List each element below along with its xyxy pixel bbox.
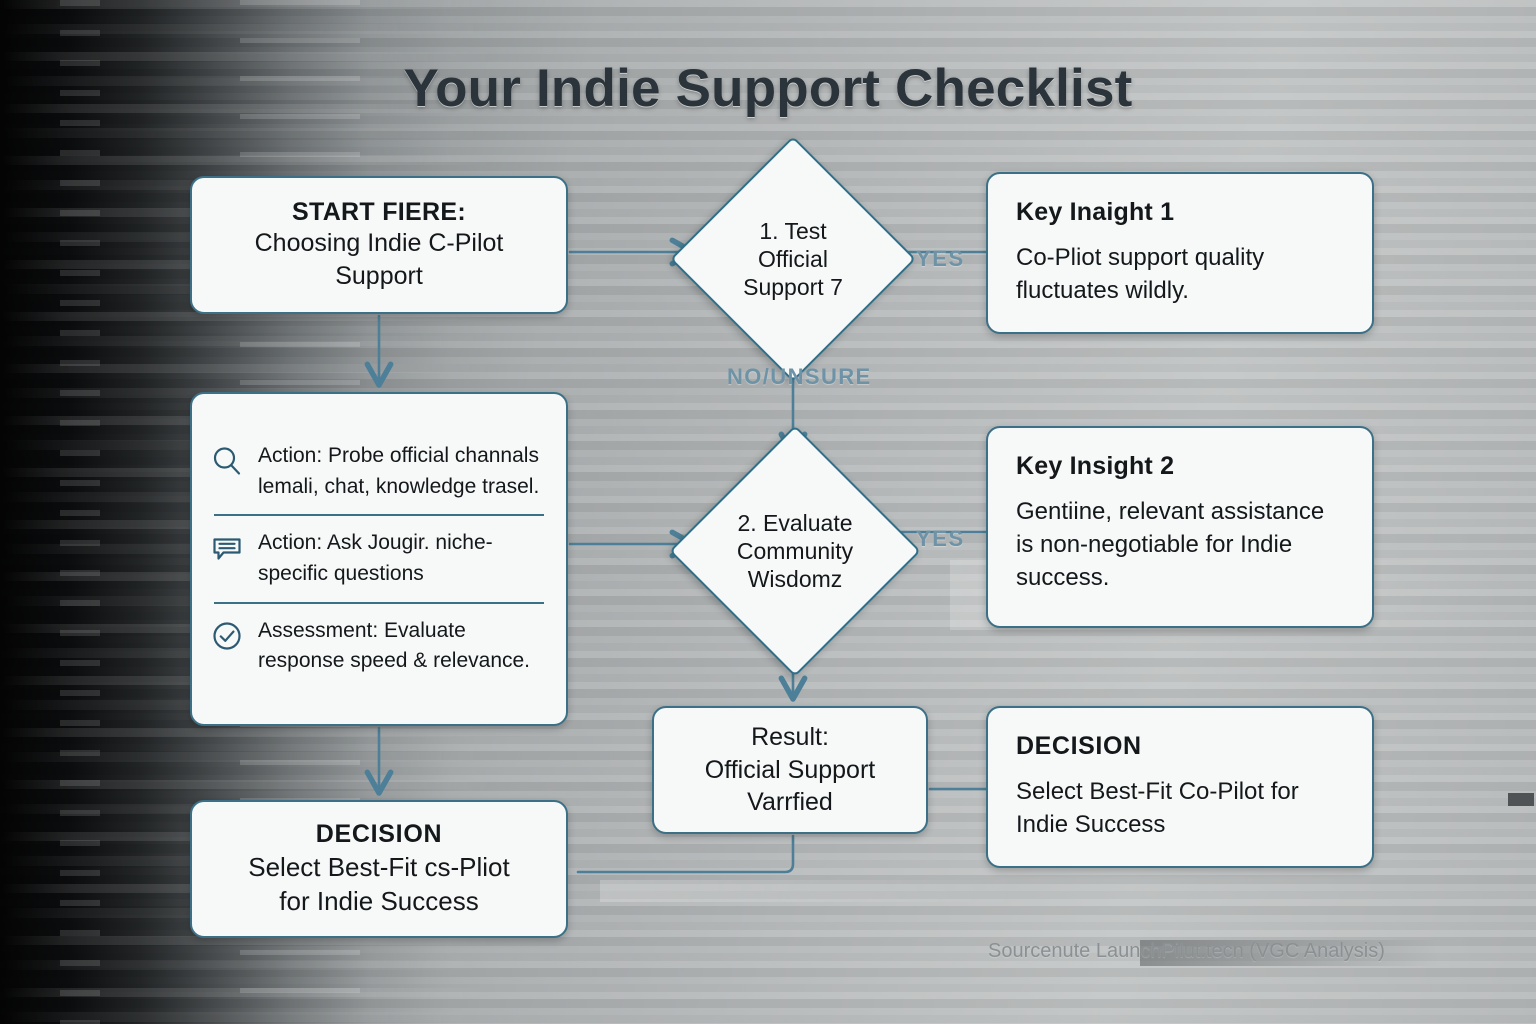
action-item-probe-text: Action: Probe official channals lemali, … xyxy=(258,441,544,502)
page-title: Your Indie Support Checklist xyxy=(0,58,1536,119)
action-item-ask-text: Action: Ask Jougir. niche-specific quest… xyxy=(258,528,544,589)
action-item-assessment[interactable]: Assessment: Evaluate response speed & re… xyxy=(192,606,566,687)
node-decision-left-title: DECISION xyxy=(316,820,442,849)
node-decision-left[interactable]: DECISION Select Best-Fit cs-Pliot for In… xyxy=(190,800,568,938)
card-key-insight-2-body: Gentiine, relevant assistance is non-neg… xyxy=(1016,495,1344,594)
node-result-line2: Official Support xyxy=(705,754,875,787)
card-key-insight-1[interactable]: Key Inaight 1 Co-Pliot support quality f… xyxy=(986,172,1374,334)
action-divider-1 xyxy=(214,514,544,516)
node-result-line3: Varrfied xyxy=(747,786,833,819)
edge-result-to-decision-left xyxy=(578,836,793,872)
node-start-line2: Support xyxy=(335,260,423,293)
edge-label-yes-1: YES xyxy=(916,246,965,272)
node-decision-left-line1: Select Best-Fit cs-Pliot xyxy=(248,851,510,885)
magnifier-icon xyxy=(210,444,244,478)
card-key-insight-2-heading: Key Insight 2 xyxy=(1016,452,1344,481)
node-result-line1: Result: xyxy=(751,721,829,754)
check-circle-icon xyxy=(210,619,244,653)
card-decision-right-body: Select Best-Fit Co-Pilot for Indie Succe… xyxy=(1016,775,1344,841)
flowchart-canvas: Your Indie Support Checklist START FIERE… xyxy=(0,0,1536,1024)
node-start[interactable]: START FIERE: Choosing Indie C-Pilot Supp… xyxy=(190,176,568,314)
decision-diamond-evaluate-community[interactable]: 2. Evaluate Community Wisdomz xyxy=(706,462,884,640)
action-item-assessment-text: Assessment: Evaluate response speed & re… xyxy=(258,616,544,677)
decision-diamond-test-official-support[interactable]: 1. Test Official Support 7 xyxy=(706,172,880,346)
chat-bubble-icon xyxy=(210,531,244,565)
edge-label-yes-2: YES xyxy=(916,526,965,552)
card-key-insight-2[interactable]: Key Insight 2 Gentiine, relevant assista… xyxy=(986,426,1374,628)
source-attribution: Sourcenute LaunchPilut.tecn (VGC Analysi… xyxy=(988,940,1458,963)
node-decision-left-line2: for Indie Success xyxy=(279,885,478,919)
node-start-title: START FIERE: xyxy=(292,198,466,227)
node-actions-list[interactable]: Action: Probe official channals lemali, … xyxy=(190,392,568,726)
card-key-insight-1-body: Co-Pliot support quality fluctuates wild… xyxy=(1016,241,1344,307)
node-start-line1: Choosing Indie C-Pilot xyxy=(255,227,504,260)
card-key-insight-1-heading: Key Inaight 1 xyxy=(1016,198,1344,227)
action-item-probe[interactable]: Action: Probe official channals lemali, … xyxy=(192,431,566,512)
decision-diamond-1-label: 1. Test Official Support 7 xyxy=(743,217,843,302)
action-item-ask[interactable]: Action: Ask Jougir. niche-specific quest… xyxy=(192,518,566,599)
card-decision-right-heading: DECISION xyxy=(1016,732,1344,761)
card-decision-right[interactable]: DECISION Select Best-Fit Co-Pilot for In… xyxy=(986,706,1374,868)
node-result[interactable]: Result: Official Support Varrfied xyxy=(652,706,928,834)
edge-label-no-unsure: NO/UNSURE xyxy=(727,364,872,390)
action-divider-2 xyxy=(214,602,544,604)
decision-diamond-2-label: 2. Evaluate Community Wisdomz xyxy=(737,509,853,594)
